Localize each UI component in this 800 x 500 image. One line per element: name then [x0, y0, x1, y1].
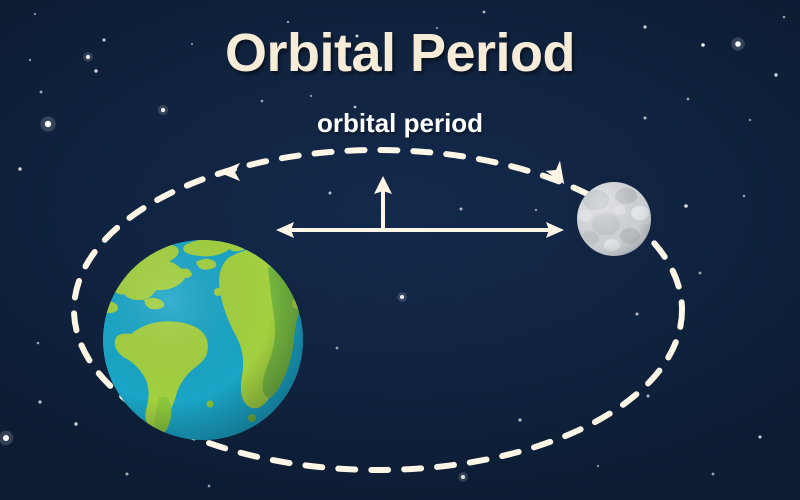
- orbital-period-span-arrow: [276, 222, 564, 238]
- orbital-period-callout-arrow: [374, 176, 392, 230]
- orbital-period-illustration: Orbital Period orbital period: [0, 0, 800, 500]
- page-title: Orbital Period: [0, 22, 800, 84]
- orbital-period-label: orbital period: [0, 108, 800, 139]
